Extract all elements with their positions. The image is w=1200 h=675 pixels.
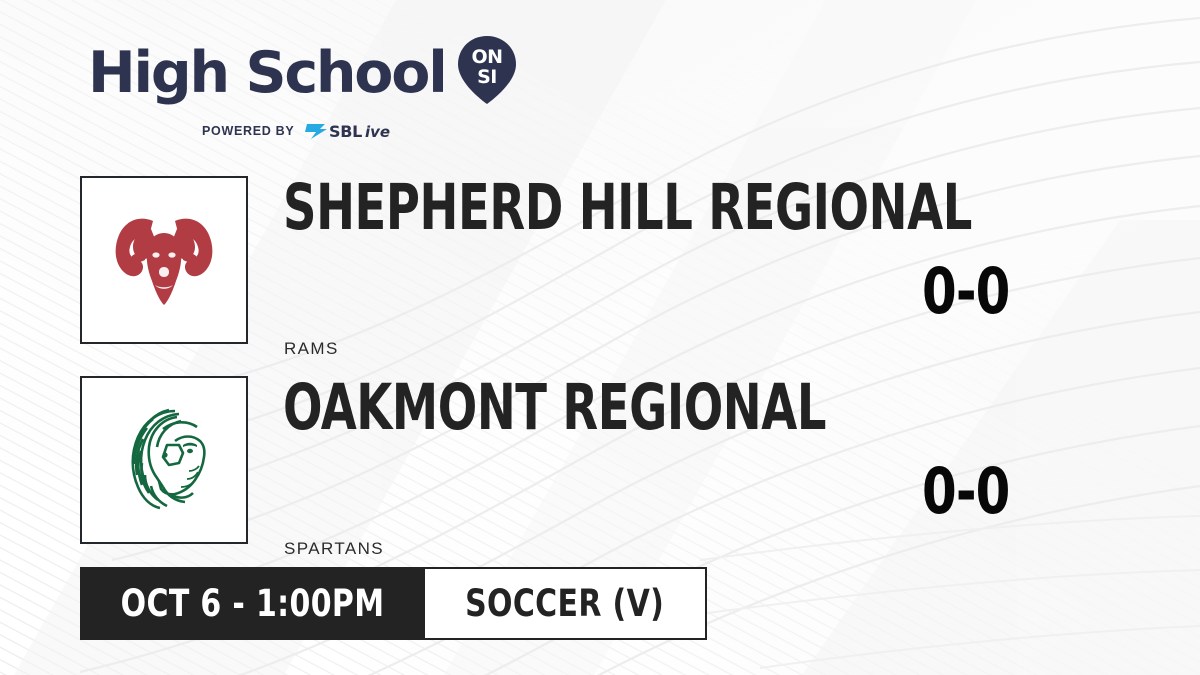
home-team-nickname: RAMS xyxy=(284,339,339,359)
sblive-name-bold: SBL xyxy=(329,122,362,141)
brand-wordmark: High School xyxy=(88,45,446,102)
home-team-record: 0-0 xyxy=(922,260,1009,323)
away-team-name: OAKMONT REGIONAL xyxy=(283,376,826,439)
home-team-logo-box xyxy=(80,176,248,344)
powered-by-row: POWERED BY SBL ive xyxy=(202,120,518,142)
home-team-name: SHEPHERD HILL REGIONAL xyxy=(283,176,972,239)
onsi-pin-line1: ON xyxy=(471,46,502,68)
onsi-pin-line2: SI xyxy=(477,66,497,88)
powered-by-label: POWERED BY xyxy=(202,124,294,138)
sblive-name-italic: ive xyxy=(365,123,390,141)
onsi-pin-icon: ON SI xyxy=(456,34,518,111)
brand-logo-row: High School ON SI xyxy=(88,36,518,111)
game-sport-panel: SOCCER (V) xyxy=(425,567,707,640)
game-sport-label: SOCCER (V) xyxy=(466,582,665,625)
game-info-bar: OCT 6 - 1:00PM SOCCER (V) xyxy=(80,567,707,640)
game-datetime-panel: OCT 6 - 1:00PM xyxy=(80,567,425,640)
sblive-bolt-icon xyxy=(305,124,327,139)
matchup-graphic: High School ON SI POWERED BY SBL ive xyxy=(0,0,1200,675)
ram-head-icon xyxy=(105,205,223,315)
away-team-record: 0-0 xyxy=(922,460,1009,523)
spartan-head-icon xyxy=(105,401,223,519)
away-team-logo-box xyxy=(80,376,248,544)
sblive-logo: SBL ive xyxy=(303,120,401,142)
brand-block: High School ON SI POWERED BY SBL ive xyxy=(88,36,518,142)
away-team-nickname: SPARTANS xyxy=(284,539,384,559)
game-datetime-label: OCT 6 - 1:00PM xyxy=(121,582,385,625)
